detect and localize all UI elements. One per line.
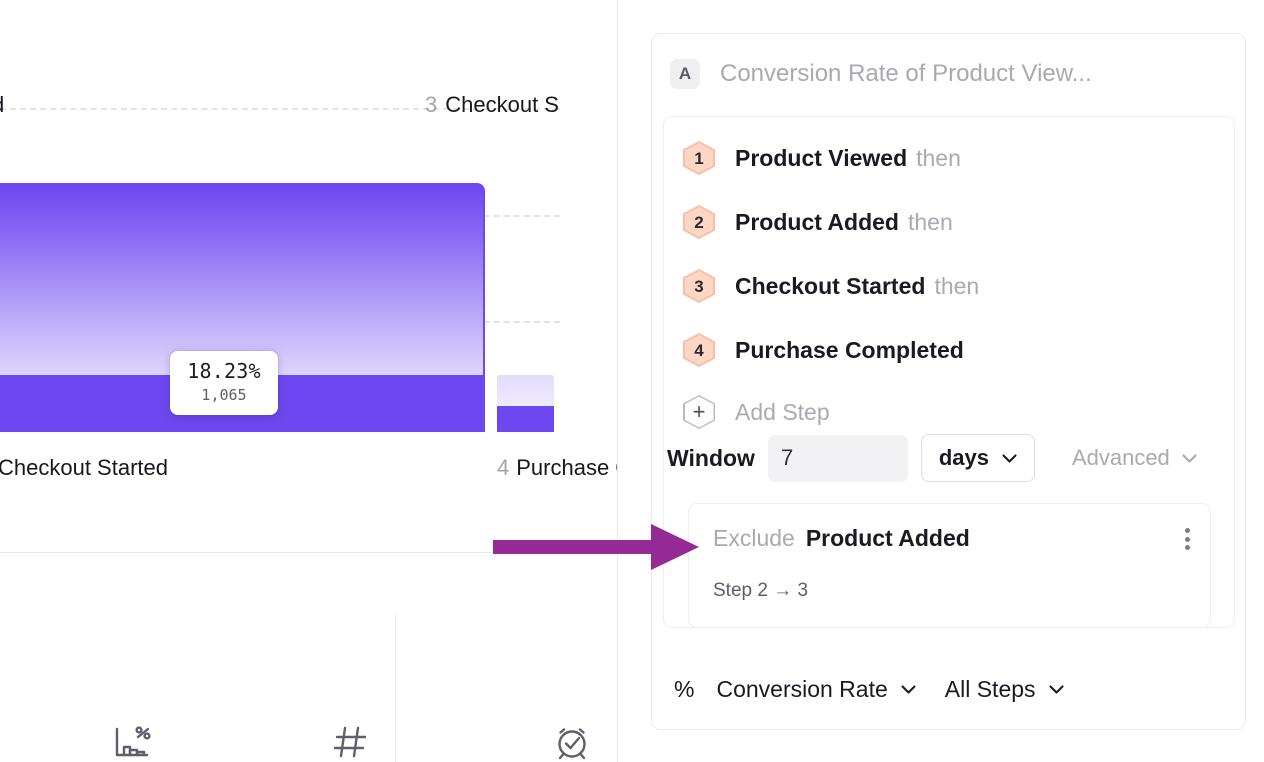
funnel-bar-purchase-completed[interactable] [497, 375, 554, 432]
query-panel-card: A Conversion Rate of Product View... 1 P… [651, 33, 1246, 730]
more-options-icon[interactable] [1176, 524, 1198, 554]
exclude-event-label[interactable]: Product Added [806, 525, 970, 552]
chart-percent-icon[interactable] [110, 722, 154, 762]
advanced-label: Advanced [1072, 445, 1170, 471]
percent-icon: % [674, 676, 694, 703]
funnel-step-4[interactable]: 4 Purchase Completed [664, 318, 1234, 382]
query-panel-header: A Conversion Rate of Product View... [652, 34, 1245, 114]
exclusion-step-card[interactable]: Exclude Product Added Step 2 → 3 [688, 503, 1211, 628]
bar-solid-segment [497, 406, 554, 432]
window-unit-select[interactable]: days [921, 434, 1035, 482]
step-number: 1 [694, 150, 703, 167]
bar-gradient-segment [497, 375, 554, 406]
funnel-chart-pane: 18.23% 1,065 Checkout Started 4Purchase … [0, 0, 617, 762]
funnel-step-1[interactable]: 1 Product Viewed then [664, 126, 1234, 190]
window-value-input[interactable] [768, 435, 908, 482]
metric-footer-row: % Conversion Rate All Steps [652, 666, 1064, 712]
step-number-hex-icon: 4 [683, 333, 715, 367]
step-event-label[interactable]: Product Added [735, 209, 899, 236]
funnel-step-3[interactable]: 3 Checkout Started then [664, 254, 1234, 318]
query-title[interactable]: Conversion Rate of Product View... [720, 60, 1092, 88]
chart-surface: 18.23% 1,065 Checkout Started 4Purchase … [0, 0, 617, 552]
step-number: 4 [694, 342, 703, 359]
exclusion-header: Exclude Product Added [713, 525, 1194, 552]
step-number-hex-icon: 3 [683, 269, 715, 303]
x-axis-label-index: 4 [497, 455, 509, 480]
app-root: 18.23% 1,065 Checkout Started 4Purchase … [0, 0, 1264, 762]
lower-chart-strip [0, 553, 617, 762]
advanced-options-button[interactable]: Advanced [1072, 445, 1197, 471]
bar-series [0, 0, 617, 432]
bar-gradient-segment [0, 183, 485, 375]
step-connector: then [916, 145, 961, 172]
step-event-label[interactable]: Product Viewed [735, 145, 907, 172]
hash-icon[interactable] [330, 722, 370, 762]
exclude-prefix-label: Exclude [713, 525, 795, 552]
chart-tooltip: 18.23% 1,065 [170, 351, 278, 415]
tooltip-percent: 18.23% [170, 360, 278, 383]
step-scope-select[interactable]: All Steps [945, 676, 1064, 703]
query-builder-pane: A Conversion Rate of Product View... 1 P… [618, 0, 1264, 762]
tooltip-count: 1,065 [170, 387, 278, 404]
window-unit-value: days [939, 445, 989, 471]
x-axis-label-text: Purchase Completed [516, 455, 617, 480]
exclude-step-range: Step 2 → 3 [713, 580, 808, 602]
chevron-down-icon [1049, 685, 1064, 694]
lower-label-right-text: Checkout S [445, 92, 559, 117]
step-number-hex-icon: 2 [683, 205, 715, 239]
conversion-window-row: Window days Advanced [664, 430, 1197, 486]
step-event-label[interactable]: Checkout Started [735, 273, 925, 300]
add-step-label: Add Step [735, 399, 830, 426]
x-axis-labels: Checkout Started 4Purchase Completed [0, 455, 617, 497]
lower-label-left-text: d [0, 92, 4, 117]
lower-label-left: d [0, 92, 4, 118]
metric-type-select[interactable]: Conversion Rate [716, 676, 915, 703]
window-label: Window [667, 445, 755, 472]
step-number: 3 [694, 278, 703, 295]
step-number-hex-icon: 1 [683, 141, 715, 175]
x-axis-label-purchase-completed: 4Purchase Completed [497, 455, 617, 481]
chevron-down-icon [1182, 454, 1197, 463]
step-connector: then [908, 209, 953, 236]
funnel-steps-card: 1 Product Viewed then 2 Product Added th… [663, 116, 1235, 628]
x-axis-label-text: Checkout Started [0, 455, 168, 480]
step-number: 2 [694, 214, 703, 231]
funnel-step-2[interactable]: 2 Product Added then [664, 190, 1234, 254]
series-letter-badge: A [670, 59, 700, 89]
plus-icon: + [683, 395, 715, 429]
chevron-down-icon [1002, 454, 1017, 463]
x-axis-label-checkout-started: Checkout Started [0, 455, 168, 481]
funnel-steps-list: 1 Product Viewed then 2 Product Added th… [664, 126, 1234, 442]
vertical-divider [395, 615, 396, 762]
clock-check-icon[interactable] [551, 722, 593, 762]
step-connector: then [934, 273, 979, 300]
step-event-label[interactable]: Purchase Completed [735, 337, 964, 364]
chevron-down-icon [901, 685, 916, 694]
metric-type-value: Conversion Rate [716, 676, 887, 703]
lower-label-right-index: 3 [425, 92, 437, 117]
step-scope-value: All Steps [945, 676, 1036, 703]
lower-label-right: 3Checkout S [425, 92, 559, 118]
